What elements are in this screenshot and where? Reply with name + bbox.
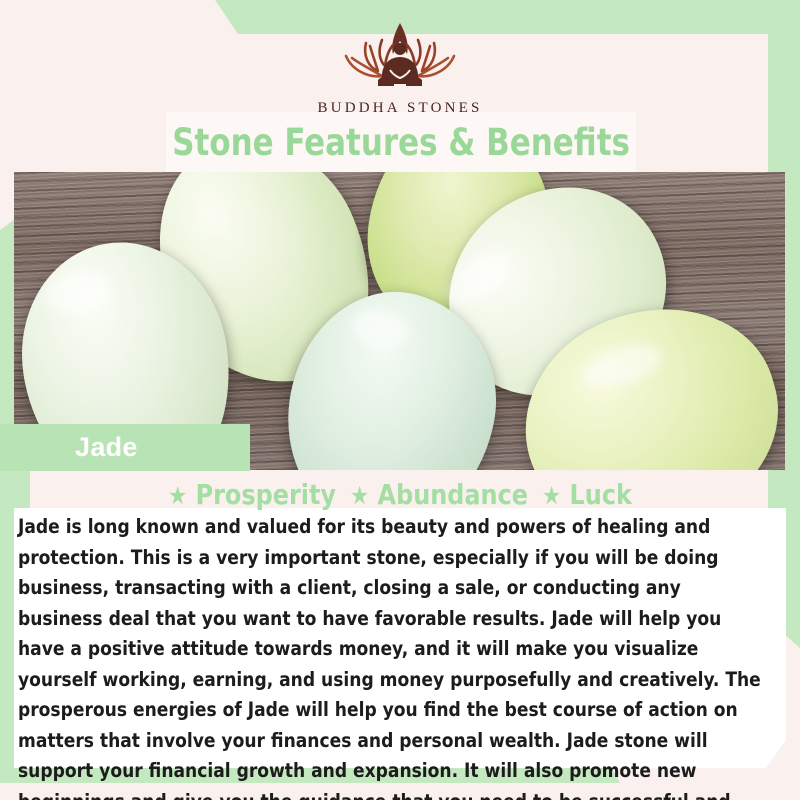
page-title: Stone Features & Benefits [172, 121, 630, 164]
title-band: Stone Features & Benefits [166, 112, 636, 172]
brand-logo: BUDDHA STONES [0, 18, 800, 117]
stone-name-banner: Jade [0, 424, 250, 471]
stone-benefits-infographic: BUDDHA STONES Stone Features & Benefits … [0, 0, 800, 800]
star-icon: ★ [542, 481, 561, 510]
stone-description: Jade is long known and valued for its be… [18, 512, 771, 800]
keyword-abundance-label: Abundance [378, 478, 528, 511]
keyword-prosperity-label: Prosperity [196, 478, 336, 511]
keyword-abundance: ★ Abundance [350, 478, 528, 511]
stone-keywords: ★ Prosperity ★ Abundance ★ Luck [20, 478, 780, 511]
stone-name-label: Jade [75, 432, 138, 463]
star-icon: ★ [168, 481, 187, 510]
lotus-meditation-icon [330, 18, 470, 96]
keyword-luck: ★ Luck [542, 478, 632, 511]
star-icon: ★ [350, 481, 369, 510]
keyword-prosperity: ★ Prosperity [168, 478, 336, 511]
keyword-luck-label: Luck [570, 478, 632, 511]
